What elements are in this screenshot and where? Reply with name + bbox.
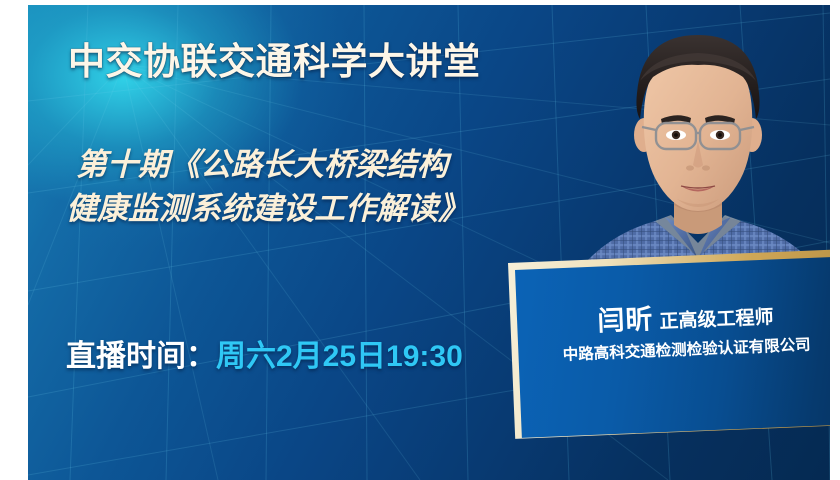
broadcast-time-value: 周六2月25日19:30 [216, 340, 463, 373]
speaker-job-title: 正高级工程师 [659, 307, 774, 333]
subtitle-line-2: 健康监测系统建设工作解读》 [66, 187, 469, 231]
speaker-info-card: 闫昕正高级工程师 中路高科交通检测检验认证有限公司 [508, 263, 830, 448]
broadcast-time-label: 直播时间： [66, 340, 216, 373]
subtitle-line-1: 第十期《公路长大桥梁结构 [76, 143, 469, 187]
card-text-group: 闫昕正高级工程师 中路高科交通检测检验认证有限公司 [508, 248, 830, 439]
broadcast-time: 直播时间：周六2月25日19:30 [66, 331, 463, 375]
promotional-banner: 中交协联交通科学大讲堂 第十期《公路长大桥梁结构 健康监测系统建设工作解读》 直… [28, 5, 830, 480]
speaker-name: 闫昕 [597, 304, 654, 336]
banner-subtitle: 第十期《公路长大桥梁结构 健康监测系统建设工作解读》 [76, 143, 469, 231]
banner-title: 中交协联交通科学大讲堂 [68, 31, 481, 85]
banner-canvas: 中交协联交通科学大讲堂 第十期《公路长大桥梁结构 健康监测系统建设工作解读》 直… [0, 0, 840, 480]
